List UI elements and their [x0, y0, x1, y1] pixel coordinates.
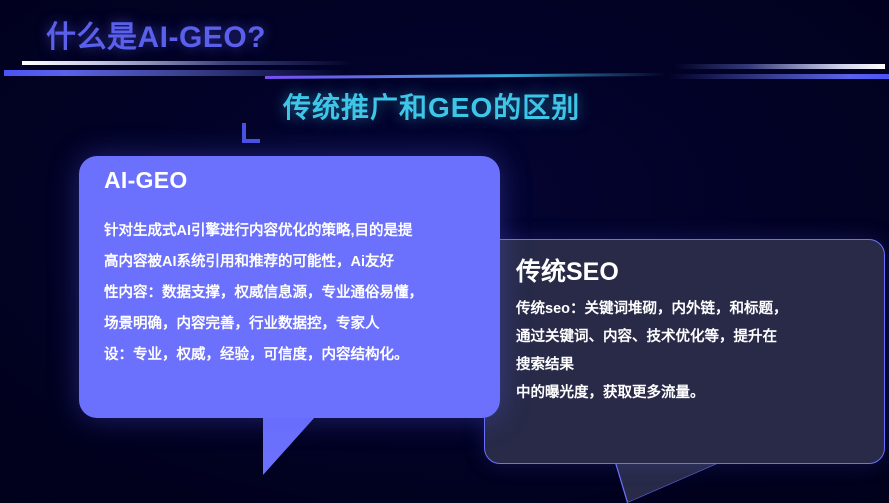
geo-card-body: 针对生成式AI引擎进行内容优化的策略,目的是提 高内容被AI系统引用和推荐的可能… [104, 216, 466, 371]
corner-bracket-icon [242, 123, 260, 143]
header-rule-right-top [675, 64, 885, 69]
header-rule-left-top [22, 61, 352, 65]
slide-subtitle: 传统推广和GEO的区别 [283, 86, 580, 126]
slide-title: 什么是AI-GEO? [46, 12, 266, 56]
geo-card-tail [263, 417, 315, 475]
seo-card-title: 传统SEO [516, 252, 619, 288]
seo-card-body: 传统seo：关键词堆砌，内外链，和标题， 通过关键词、内容、技术优化等，提升在 … [516, 295, 846, 407]
seo-card-tail [616, 462, 720, 502]
header-rule-right-bottom [669, 74, 889, 79]
geo-card-title: AI-GEO [104, 167, 188, 194]
slide-canvas: 什么是AI-GEO? 传统推广和GEO的区别 传统SEO 传统seo：关键词堆砌… [0, 0, 889, 503]
